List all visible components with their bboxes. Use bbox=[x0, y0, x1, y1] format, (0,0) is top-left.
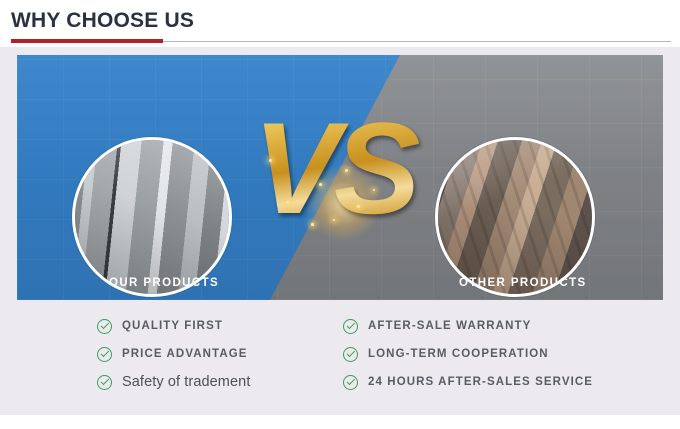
sparkle-icon bbox=[319, 183, 322, 186]
why-choose-us-page: WHY CHOOSE US VS bbox=[0, 0, 680, 429]
check-circle-icon bbox=[343, 375, 358, 390]
our-products-label: OUR PRODUCTS bbox=[109, 277, 219, 289]
sparkle-icon bbox=[311, 223, 314, 226]
list-item: Safety of tradement bbox=[97, 368, 250, 396]
rusty-steel-bars-photo bbox=[435, 137, 595, 297]
header-accent-underline bbox=[11, 39, 163, 43]
comparison-banner: VS OUR PRODUCTS OTHER PRODUCTS bbox=[17, 55, 663, 300]
feature-column-right: AFTER-SALE WARRANTY LONG-TERM COOPERATIO… bbox=[343, 312, 593, 396]
feature-label: 24 HOURS AFTER-SALES SERVICE bbox=[368, 376, 593, 388]
feature-label: AFTER-SALE WARRANTY bbox=[368, 320, 531, 332]
sparkle-icon bbox=[357, 205, 360, 208]
page-header: WHY CHOOSE US bbox=[0, 0, 680, 47]
check-circle-icon bbox=[97, 319, 112, 334]
versus-mark: VS bbox=[253, 93, 428, 253]
feature-list: QUALITY FIRST PRICE ADVANTAGE Safety of … bbox=[17, 312, 663, 406]
list-item: PRICE ADVANTAGE bbox=[97, 340, 250, 368]
check-circle-icon bbox=[343, 319, 358, 334]
check-circle-icon bbox=[343, 347, 358, 362]
list-item: 24 HOURS AFTER-SALES SERVICE bbox=[343, 368, 593, 396]
list-item: LONG-TERM COOPERATION bbox=[343, 340, 593, 368]
feature-label: LONG-TERM COOPERATION bbox=[368, 348, 549, 360]
sparkle-icon bbox=[373, 189, 375, 191]
versus-text: VS bbox=[253, 93, 428, 243]
feature-label: Safety of tradement bbox=[122, 374, 250, 390]
feature-label: PRICE ADVANTAGE bbox=[122, 348, 248, 360]
sparkle-icon bbox=[333, 219, 335, 221]
sparkle-icon bbox=[345, 169, 348, 172]
sparkle-icon bbox=[287, 201, 289, 203]
silver-steel-bars-photo bbox=[72, 137, 232, 297]
sparkle-icon bbox=[269, 159, 272, 162]
feature-column-left: QUALITY FIRST PRICE ADVANTAGE Safety of … bbox=[97, 312, 250, 396]
list-item: AFTER-SALE WARRANTY bbox=[343, 312, 593, 340]
feature-label: QUALITY FIRST bbox=[122, 320, 223, 332]
check-circle-icon bbox=[97, 375, 112, 390]
page-title: WHY CHOOSE US bbox=[11, 9, 194, 33]
our-products-image bbox=[72, 137, 232, 297]
list-item: QUALITY FIRST bbox=[97, 312, 250, 340]
other-products-label: OTHER PRODUCTS bbox=[459, 277, 587, 289]
other-products-image bbox=[435, 137, 595, 297]
check-circle-icon bbox=[97, 347, 112, 362]
